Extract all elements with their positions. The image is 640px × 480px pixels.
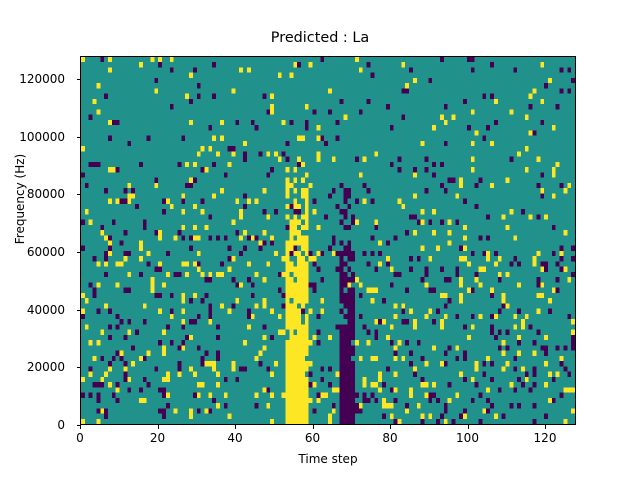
x-tick-mark xyxy=(158,425,159,429)
matplotlib-figure: Predicted : La 020406080100120 020000400… xyxy=(0,0,640,480)
y-tick-mark xyxy=(77,79,81,80)
y-tick-mark xyxy=(77,367,81,368)
y-tick-mark xyxy=(77,137,81,138)
x-tick-mark xyxy=(235,425,236,429)
x-tick-mark xyxy=(468,425,469,429)
x-tick-label: 40 xyxy=(227,431,242,445)
x-tick-label: 60 xyxy=(305,431,320,445)
x-axis-label: Time step xyxy=(80,452,576,466)
x-tick-label: 80 xyxy=(382,431,397,445)
x-tick-label: 0 xyxy=(76,431,84,445)
y-tick-mark xyxy=(77,252,81,253)
y-tick-label: 40000 xyxy=(27,303,65,317)
x-tick-mark xyxy=(313,425,314,429)
x-tick-label: 120 xyxy=(534,431,557,445)
heatmap-image xyxy=(81,57,575,424)
y-tick-label: 80000 xyxy=(27,187,65,201)
y-tick-label: 20000 xyxy=(27,360,65,374)
y-tick-label: 0 xyxy=(57,418,65,432)
y-axis-label: Frequency (Hz) xyxy=(13,79,27,319)
x-tick-mark xyxy=(80,425,81,429)
y-tick-mark xyxy=(77,194,81,195)
x-tick-mark xyxy=(545,425,546,429)
y-tick-label: 60000 xyxy=(27,245,65,259)
x-tick-label: 20 xyxy=(150,431,165,445)
x-tick-label: 100 xyxy=(456,431,479,445)
y-tick-mark xyxy=(77,425,81,426)
page-title: Predicted : La xyxy=(0,29,640,47)
heatmap-axes xyxy=(80,56,576,425)
x-tick-mark xyxy=(390,425,391,429)
y-tick-mark xyxy=(77,310,81,311)
